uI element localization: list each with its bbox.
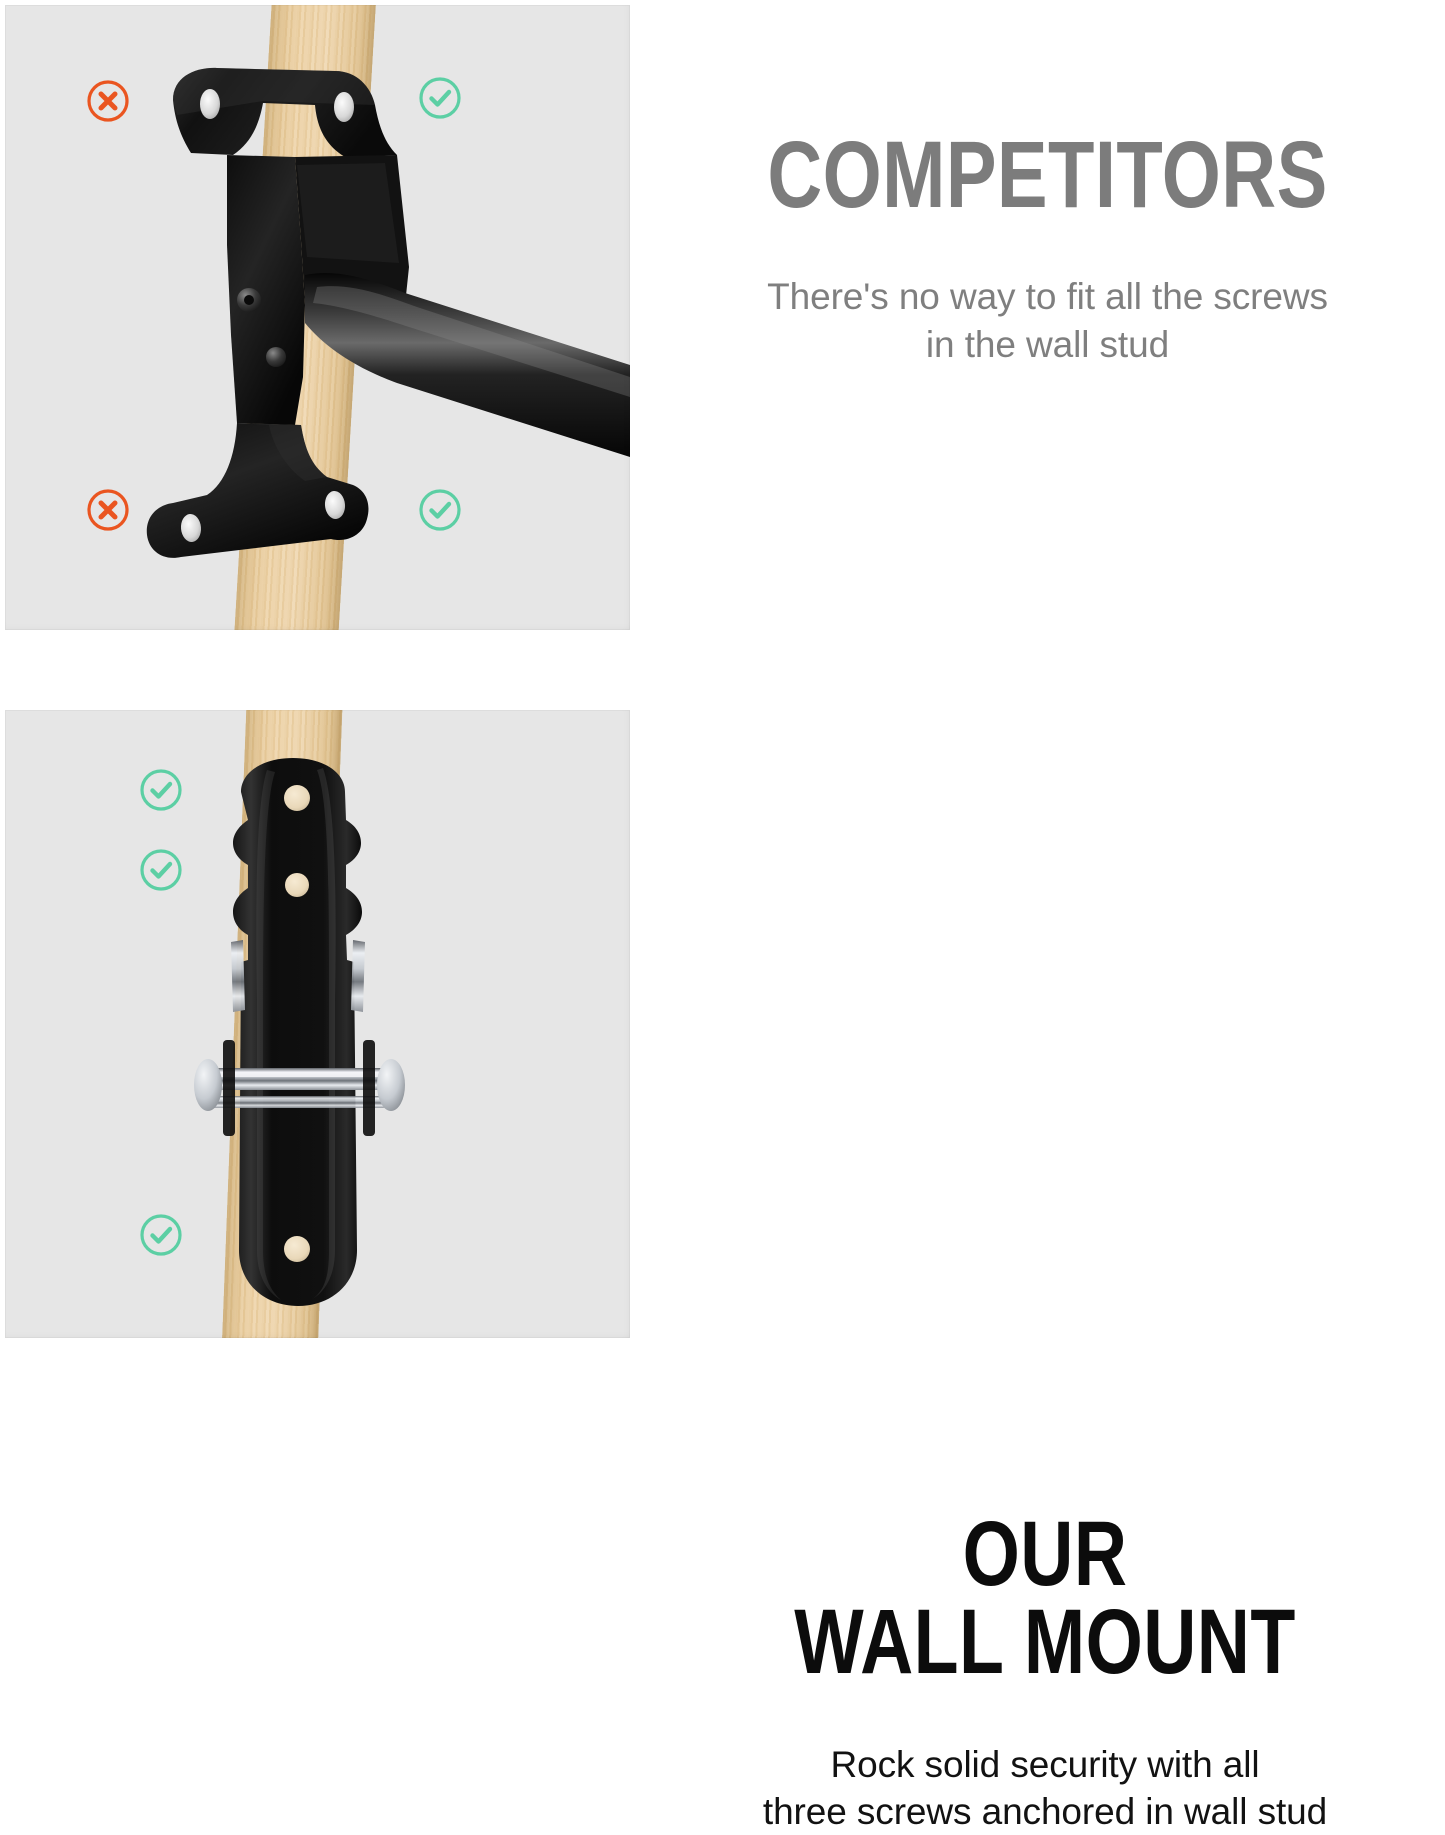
cross-icon-top-left bbox=[85, 78, 131, 124]
comparison-infographic: COMPETITORS There's no way to fit all th… bbox=[0, 0, 1445, 1343]
our-wall-mount-photo bbox=[5, 710, 630, 1338]
check-icon-top-right bbox=[417, 75, 463, 121]
competitors-subtext-line-1: There's no way to fit all the screws bbox=[767, 276, 1328, 317]
our-wall-mount-headline-line-2: WALL MOUNT bbox=[729, 1598, 1361, 1686]
check-icon-lower bbox=[138, 1212, 184, 1258]
cross-icon-bottom-left bbox=[85, 487, 131, 533]
our-wall-mount-section: OUR WALL MOUNT Rock solid security with … bbox=[0, 680, 1445, 1343]
competitors-text-block: COMPETITORS There's no way to fit all th… bbox=[660, 130, 1435, 368]
check-icon-upper bbox=[138, 767, 184, 813]
competitors-photo bbox=[5, 5, 630, 630]
competitors-headline: COMPETITORS bbox=[738, 130, 1358, 221]
our-wall-mount-headline: OUR WALL MOUNT bbox=[729, 1510, 1361, 1687]
our-wall-mount-subtext-line-1: Rock solid security with all bbox=[830, 1744, 1259, 1785]
check-icon-middle bbox=[138, 847, 184, 893]
our-wall-mount-subtext-line-2: three screws anchored in wall stud bbox=[763, 1791, 1327, 1832]
our-wall-mount-subtext: Rock solid security with all three screw… bbox=[650, 1741, 1440, 1835]
check-icon-bottom-right bbox=[417, 487, 463, 533]
our-wall-mount-headline-line-1: OUR bbox=[963, 1503, 1128, 1605]
our-wall-mount-image bbox=[5, 710, 630, 1338]
competitors-section: COMPETITORS There's no way to fit all th… bbox=[0, 0, 1445, 660]
competitors-subtext: There's no way to fit all the screws in … bbox=[660, 273, 1435, 368]
our-wall-mount-text-block: OUR WALL MOUNT Rock solid security with … bbox=[650, 1510, 1440, 1835]
competitors-subtext-line-2: in the wall stud bbox=[926, 324, 1169, 365]
